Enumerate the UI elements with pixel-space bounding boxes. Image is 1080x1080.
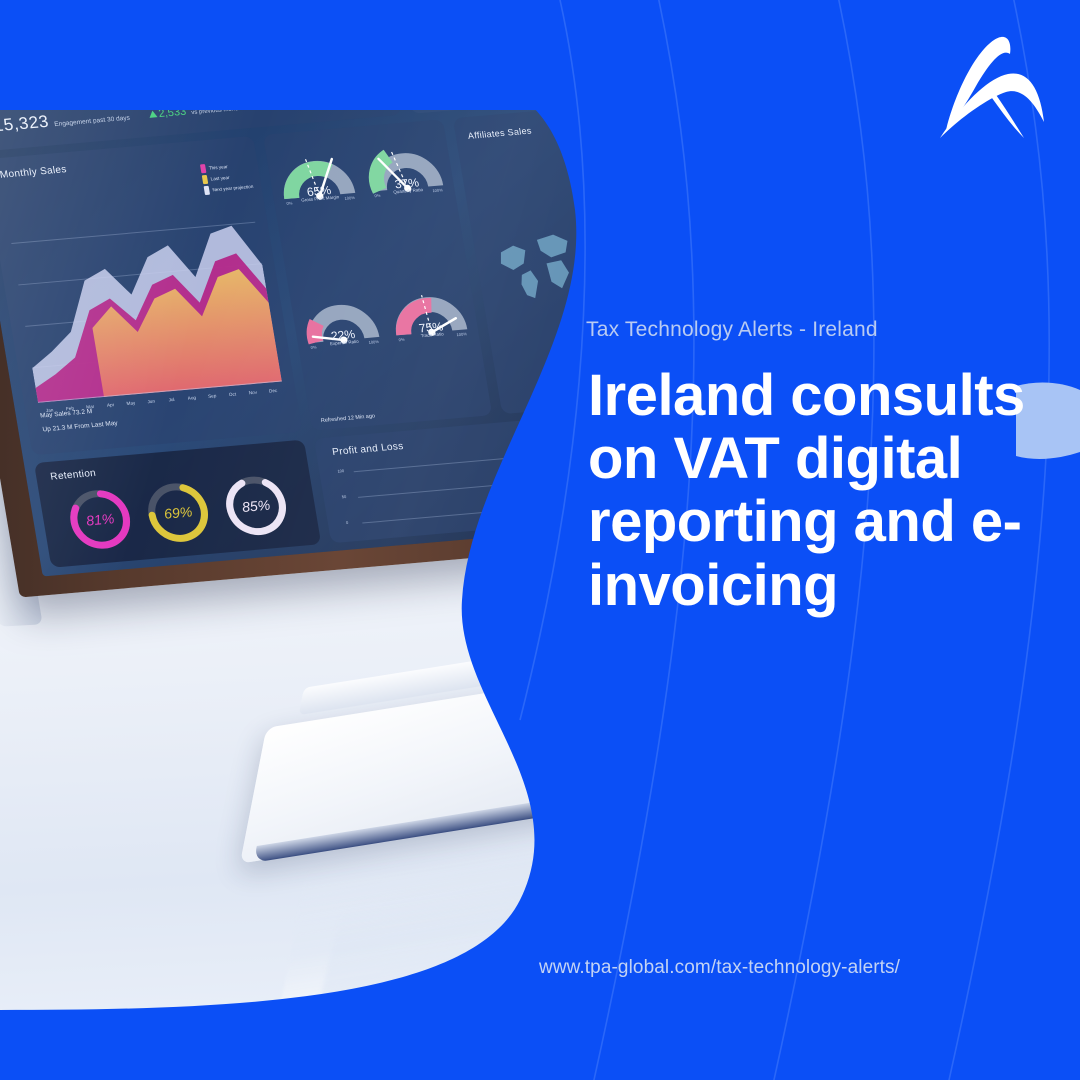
tpa-global-logo-icon xyxy=(932,26,1052,144)
poster-canvas: 123456789101234567891012345678 15,323 En… xyxy=(0,0,1080,1080)
footer-url[interactable]: www.tpa-global.com/tax-technology-alerts… xyxy=(539,957,900,979)
eyebrow-label: Tax Technology Alerts - Ireland xyxy=(586,318,878,342)
page-title: Ireland consults on VAT digital reportin… xyxy=(588,364,1028,617)
